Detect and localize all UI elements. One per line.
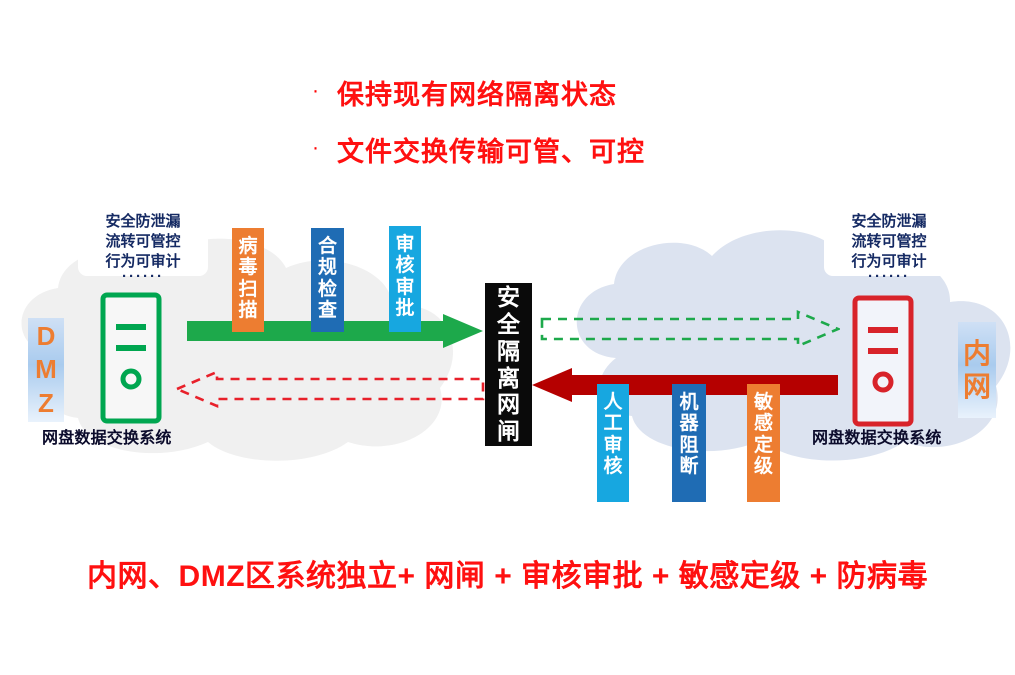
chip-compliance-char-2: 规 <box>318 257 337 278</box>
callout-left-line-1: 安全防泄漏 <box>87 212 199 232</box>
chip-virus-char-1: 病 <box>238 236 257 257</box>
zone-dmz-char-2: M <box>35 353 57 386</box>
gateway-char-6: 闸 <box>497 418 520 445</box>
zone-label-dmz: D M Z <box>28 318 64 422</box>
chip-grading-char-4: 级 <box>754 456 773 477</box>
chip-grading-char-3: 定 <box>754 435 773 456</box>
process-chip-virus-scan[interactable]: 病 毒 扫 描 <box>232 228 264 332</box>
chip-approval-char-3: 审 <box>395 277 414 298</box>
chip-block-char-3: 阻 <box>679 435 698 456</box>
chip-block-char-1: 机 <box>679 392 698 413</box>
headline-text-1: 保持现有网络隔离状态 <box>337 73 617 112</box>
chip-virus-char-2: 毒 <box>238 257 257 278</box>
gateway-char-1: 安 <box>497 284 520 311</box>
callout-left-tail-dots: ······ <box>78 268 208 285</box>
chip-compliance-char-4: 查 <box>318 300 337 321</box>
chip-virus-char-4: 描 <box>238 300 257 321</box>
chip-compliance-char-1: 合 <box>318 236 337 257</box>
headline-bullet-item: · 保持现有网络隔离状态 <box>312 73 772 112</box>
callout-left-line-2: 流转可管控 <box>87 232 199 252</box>
chip-manual-char-4: 核 <box>603 456 622 477</box>
process-chip-machine-block[interactable]: 机 器 阻 断 <box>672 384 706 502</box>
bullet-dot-icon: · <box>312 137 319 158</box>
chip-manual-char-3: 审 <box>603 435 622 456</box>
callout-right-tail-dots: ······ <box>824 268 954 285</box>
process-chip-approval[interactable]: 审 核 审 批 <box>389 226 421 332</box>
process-chip-sensitivity-grading[interactable]: 敏 感 定 级 <box>747 384 780 502</box>
zone-intranet-char-1: 内 <box>963 337 991 370</box>
callout-right-line-2: 流转可管控 <box>833 232 945 252</box>
system-caption-right: 网盘数据交换系统 <box>812 424 942 448</box>
zone-label-intranet: 内 网 <box>958 322 996 418</box>
server-icon-left <box>100 292 162 429</box>
callout-bubble-left: 安全防泄漏 流转可管控 行为可审计 <box>78 206 208 276</box>
chip-block-char-2: 器 <box>679 413 698 434</box>
chip-grading-char-2: 感 <box>754 413 773 434</box>
chip-manual-char-2: 工 <box>603 413 622 434</box>
footer-summary-caption: 内网、DMZ区系统独立+ 网闸 + 审核审批 + 敏感定级 + 防病毒 <box>0 551 1015 595</box>
chip-approval-char-4: 批 <box>395 298 414 319</box>
headline-bullet-list: · 保持现有网络隔离状态 · 文件交换传输可管、可控 <box>312 73 772 187</box>
callout-bubble-right: 安全防泄漏 流转可管控 行为可审计 <box>824 206 954 276</box>
process-chip-compliance-check[interactable]: 合 规 检 查 <box>311 228 344 332</box>
chip-approval-char-2: 核 <box>395 255 414 276</box>
server-icon-right <box>852 295 914 432</box>
bullet-dot-icon: · <box>312 80 319 101</box>
system-caption-left: 网盘数据交换系统 <box>42 424 172 448</box>
arrow-inbound-red-dashed <box>175 370 485 413</box>
gateway-char-4: 离 <box>497 365 520 392</box>
chip-compliance-char-3: 检 <box>318 279 337 300</box>
gateway-char-2: 全 <box>497 311 520 338</box>
zone-dmz-char-3: Z <box>38 387 54 420</box>
zone-dmz-char-1: D <box>37 320 56 353</box>
headline-bullet-item: · 文件交换传输可管、可控 <box>312 130 772 169</box>
callout-right-line-1: 安全防泄漏 <box>833 212 945 232</box>
chip-manual-char-1: 人 <box>603 392 622 413</box>
security-gateway-box[interactable]: 安 全 隔 离 网 闸 <box>485 283 532 446</box>
gateway-char-5: 网 <box>497 391 520 418</box>
diagram-canvas: · 保持现有网络隔离状态 · 文件交换传输可管、可控 D M Z 内 网 安全防… <box>0 0 1015 675</box>
chip-grading-char-1: 敏 <box>754 392 773 413</box>
gateway-char-3: 隔 <box>497 338 520 365</box>
process-chip-manual-review[interactable]: 人 工 审 核 <box>597 384 629 502</box>
arrow-outbound-green-dashed <box>540 310 840 353</box>
chip-approval-char-1: 审 <box>395 234 414 255</box>
chip-virus-char-3: 扫 <box>238 279 257 300</box>
zone-intranet-char-2: 网 <box>963 370 991 403</box>
chip-block-char-4: 断 <box>679 456 698 477</box>
headline-text-2: 文件交换传输可管、可控 <box>337 130 645 169</box>
